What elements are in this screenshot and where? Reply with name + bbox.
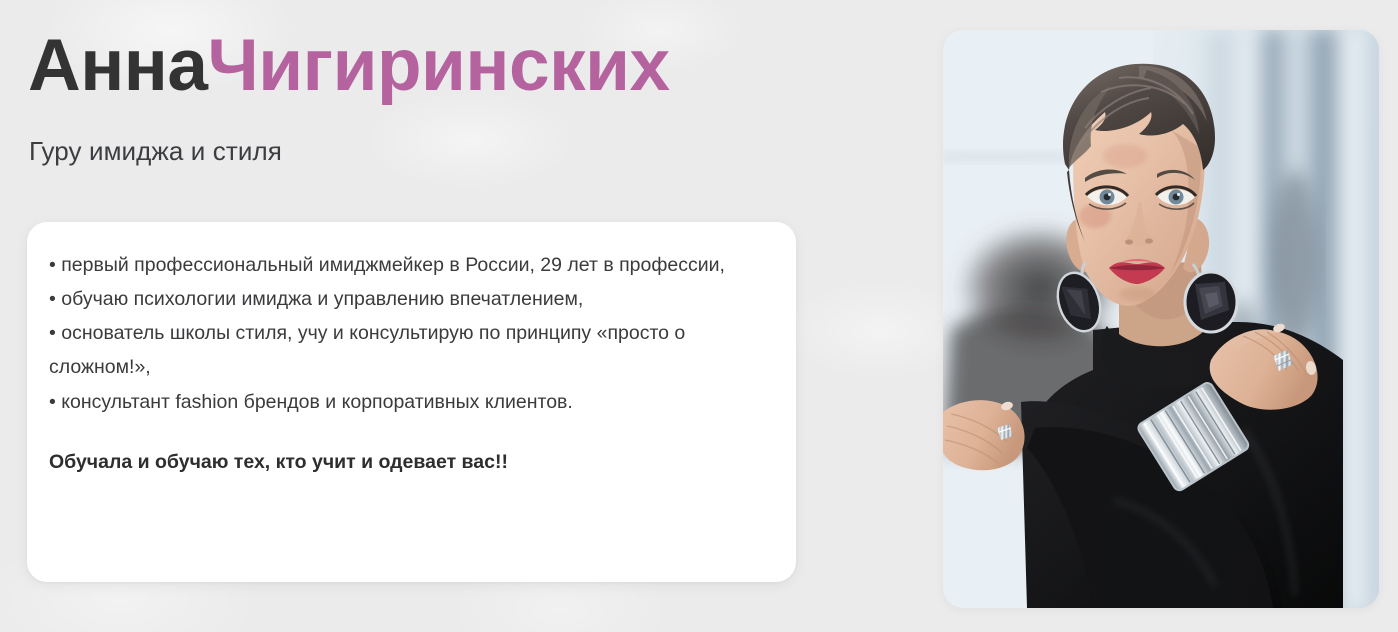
bio-bullet-list: • первый профессиональный имиджмейкер в …: [49, 248, 768, 419]
page-subtitle: Гуру имиджа и стиля: [29, 136, 282, 167]
page-title: АннаЧигиринских: [28, 28, 670, 105]
bio-bullet-item: • первый профессиональный имиджмейкер в …: [49, 248, 768, 282]
bio-bullet-item: • обучаю психологии имиджа и управлению …: [49, 282, 768, 316]
bio-emphasis-line: Обучала и обучаю тех, кто учит и одевает…: [49, 447, 768, 478]
landing-hero-section: АннаЧигиринских Гуру имиджа и стиля • пе…: [0, 0, 1398, 632]
bio-bullet-item: • основатель школы стиля, учу и консульт…: [49, 316, 768, 384]
page-title-last-name: Чигиринских: [208, 25, 670, 106]
bio-card: • первый профессиональный имиджмейкер в …: [27, 222, 796, 582]
page-title-first-name: Анна: [28, 25, 208, 106]
portrait-photo: [943, 30, 1379, 608]
text-column: АннаЧигиринских Гуру имиджа и стиля • пе…: [0, 0, 860, 632]
bio-bullet-item: • консультант fashion брендов и корпорат…: [49, 385, 768, 419]
